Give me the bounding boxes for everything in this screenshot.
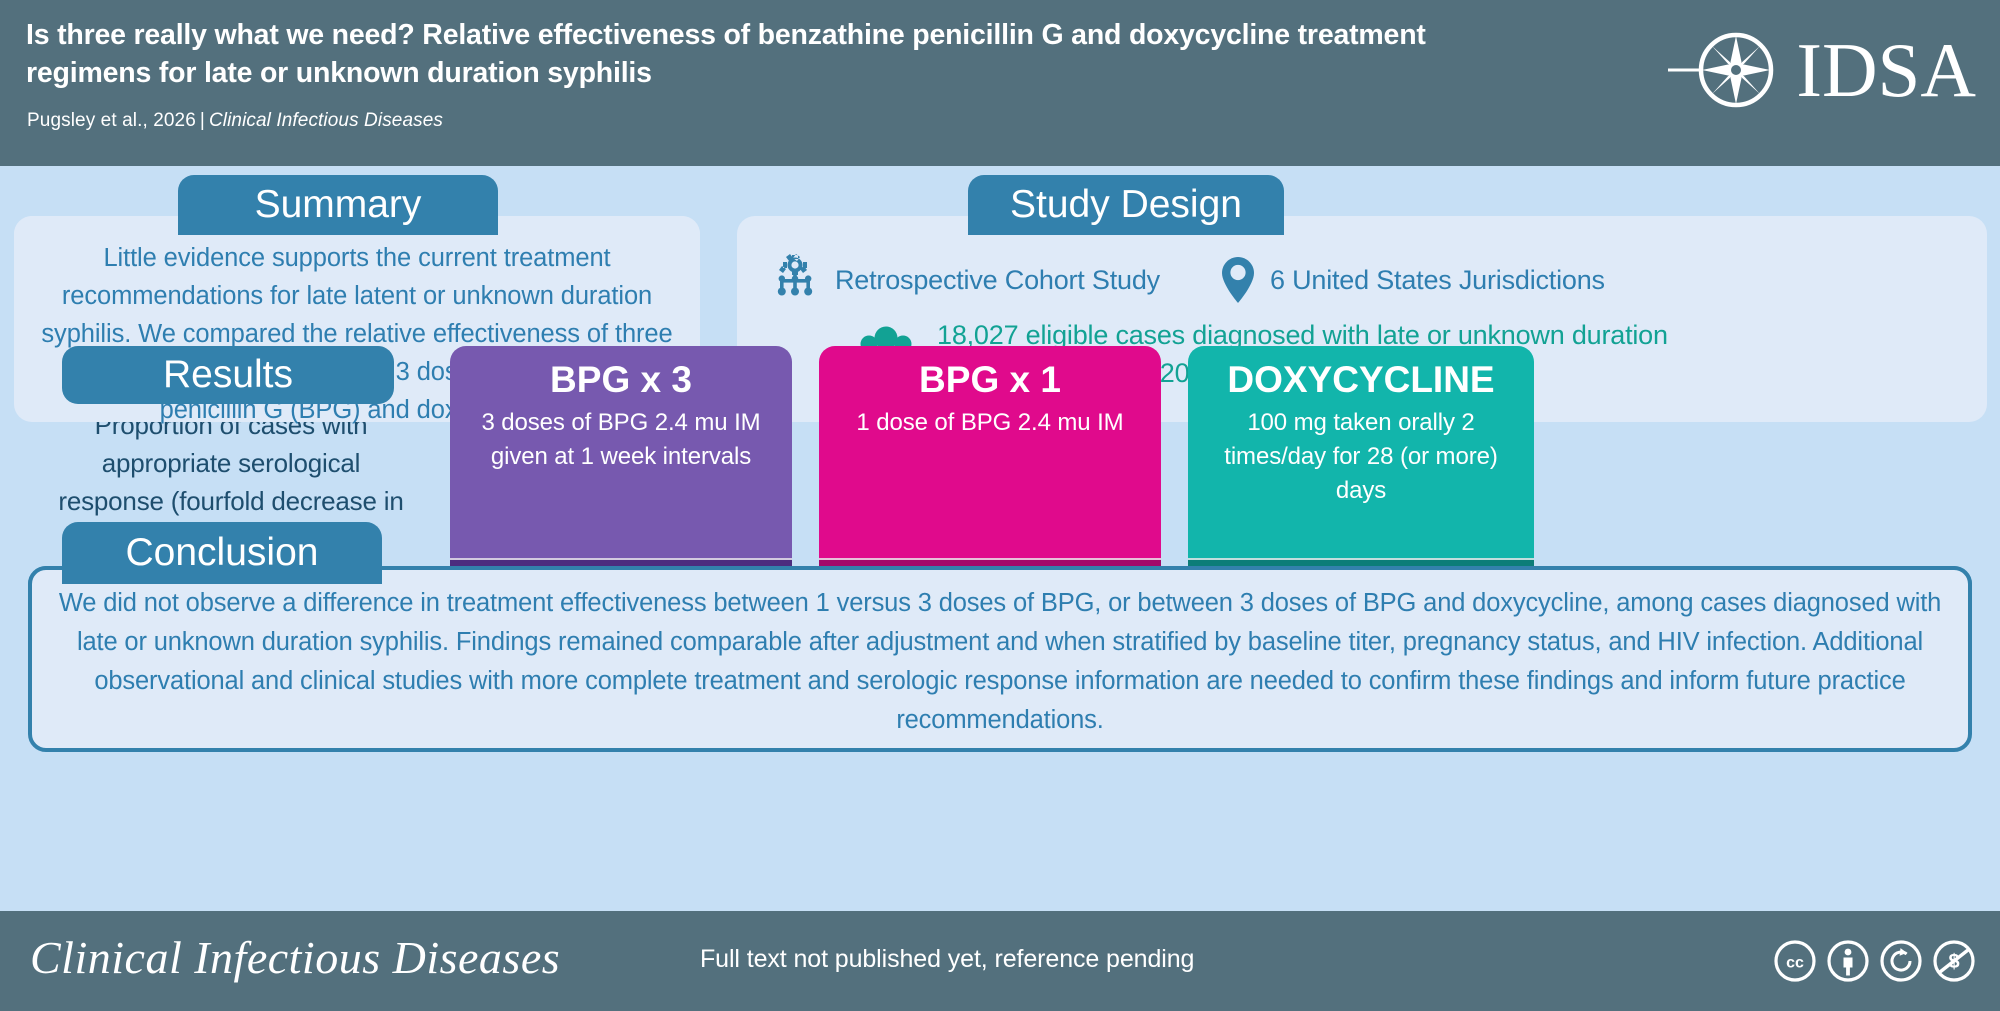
treatment-card-top: BPG x 1 1 dose of BPG 2.4 mu IM xyxy=(819,346,1161,558)
results-pill: Results xyxy=(62,346,394,404)
body-area: Summary Little evidence supports the cur… xyxy=(0,166,2000,911)
page-footer: Clinical Infectious Diseases Full text n… xyxy=(0,911,2000,1011)
page-title: Is three really what we need? Relative e… xyxy=(26,16,1446,92)
byline-journal: Clinical Infectious Diseases xyxy=(209,110,443,131)
treatment-name: BPG x 3 xyxy=(450,356,792,404)
org-chart-gear-icon xyxy=(769,254,821,306)
treatment-dose: 1 dose of BPG 2.4 mu IM xyxy=(819,404,1161,440)
treatment-dose: 100 mg taken orally 2 times/day for 28 (… xyxy=(1188,404,1534,508)
byline-separator: | xyxy=(196,110,209,131)
cc-sa-icon[interactable] xyxy=(1879,939,1923,983)
cc-by-icon[interactable] xyxy=(1826,939,1870,983)
jurisdictions-label: 6 United States Jurisdictions xyxy=(1270,265,1605,296)
study-type-item: Retrospective Cohort Study xyxy=(769,254,1160,306)
treatment-name: BPG x 1 xyxy=(819,356,1161,404)
jurisdictions-item: 6 United States Jurisdictions xyxy=(1220,254,1605,306)
footer-reference-note: Full text not published yet, reference p… xyxy=(700,945,1194,974)
idsa-logo: IDSA xyxy=(1666,22,1976,118)
svg-text:cc: cc xyxy=(1786,955,1804,972)
conclusion-pill-label: Conclusion xyxy=(126,531,319,575)
study-design-row-1: Retrospective Cohort Study 6 United Stat… xyxy=(769,254,1605,306)
page-header: Is three really what we need? Relative e… xyxy=(0,0,2000,166)
treatment-card-top: DOXYCYCLINE 100 mg taken orally 2 times/… xyxy=(1188,346,1534,558)
treatment-card-top: BPG x 3 3 doses of BPG 2.4 mu IM given a… xyxy=(450,346,792,558)
idsa-compass-star-icon xyxy=(1666,22,1794,118)
cc-icon[interactable]: cc xyxy=(1773,939,1817,983)
map-pin-icon xyxy=(1220,254,1256,306)
study-type-label: Retrospective Cohort Study xyxy=(835,265,1160,296)
results-pill-label: Results xyxy=(163,353,293,397)
summary-pill-label: Summary xyxy=(255,183,422,227)
cc-nc-icon[interactable]: $ xyxy=(1932,939,1976,983)
conclusion-box-body: We did not observe a difference in treat… xyxy=(28,566,1972,752)
byline: Pugsley et al., 2026|Clinical Infectious… xyxy=(27,110,443,132)
summary-pill: Summary xyxy=(178,175,498,235)
conclusion-text: We did not observe a difference in treat… xyxy=(32,570,1968,740)
study-design-pill-label: Study Design xyxy=(1010,183,1242,227)
treatment-dose: 3 doses of BPG 2.4 mu IM given at 1 week… xyxy=(450,404,792,474)
footer-journal-name: Clinical Infectious Diseases xyxy=(30,931,560,984)
study-design-pill: Study Design xyxy=(968,175,1284,235)
byline-authors: Pugsley et al., 2026 xyxy=(27,110,196,131)
treatment-name: DOXYCYCLINE xyxy=(1188,356,1534,404)
idsa-wordmark: IDSA xyxy=(1796,32,1976,109)
conclusion-pill: Conclusion xyxy=(62,522,382,584)
license-icons: cc $ xyxy=(1773,939,1976,983)
